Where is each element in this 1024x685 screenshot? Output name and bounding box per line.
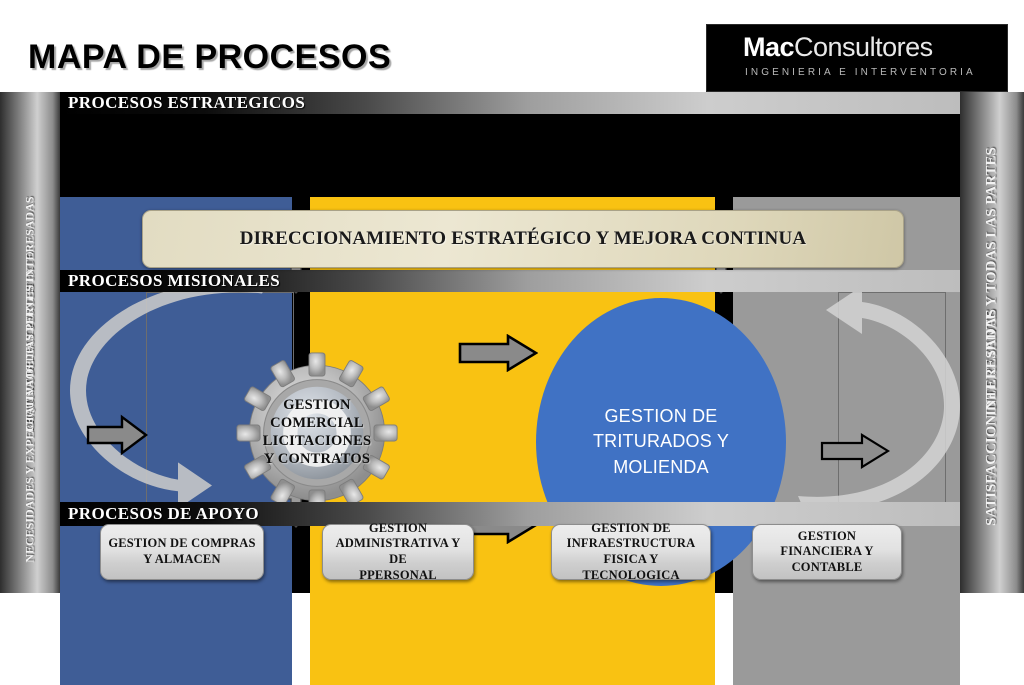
output-arrow xyxy=(820,432,890,470)
gear-commercial-management: GESTION COMERCIAL LICITACIONES Y CONTRAT… xyxy=(228,344,406,522)
process-arrow-top xyxy=(458,334,538,372)
gear-line-4: Y CONTRATOS xyxy=(264,451,370,469)
band-label-misionales: PROCESOS MISIONALES xyxy=(68,271,280,291)
gear-line-3: LICITACIONES xyxy=(263,433,372,451)
band-procesos-misionales: PROCESOS MISIONALES xyxy=(60,270,960,292)
support-box-compras-label: GESTION DE COMPRAS Y ALMACEN xyxy=(108,536,255,567)
support-box-administrativa-label: GESTION ADMINISTRATIVA Y DE PPERSONAL xyxy=(329,521,467,584)
support-line: PPERSONAL xyxy=(329,568,467,584)
company-logo: MacConsultores INGENIERIA E INTERVENTORI… xyxy=(706,24,1008,92)
sidebar-left-line-3: NECESIDADES Y EXPECTATIVA DE LAS PERTES … xyxy=(23,160,38,600)
support-box-financiera[interactable]: GESTION FINANCIERA Y CONTABLE xyxy=(752,524,902,580)
sidebar-right-line-2: INTERESADAS xyxy=(984,143,1001,583)
recirculation-arrow-right xyxy=(770,288,970,514)
support-line: FINANCIERA Y xyxy=(780,544,873,560)
gear-line-2: COMERCIAL xyxy=(270,415,364,433)
ellipse-line-2: TRITURADOS Y xyxy=(593,429,729,455)
support-line: CONTABLE xyxy=(780,560,873,576)
band-label-estrategicos: PROCESOS ESTRATEGICOS xyxy=(68,93,305,113)
support-line: Y ALMACEN xyxy=(108,552,255,568)
sidebar-outputs: SATISFACCION DEL CLIENTE Y TODAS LAS PAR… xyxy=(960,92,1024,593)
page-header: MAPA DE PROCESOS MacConsultores INGENIER… xyxy=(0,0,1024,92)
page-title: MAPA DE PROCESOS xyxy=(28,38,391,77)
support-box-financiera-label: GESTION FINANCIERA Y CONTABLE xyxy=(780,529,873,576)
support-box-administrativa[interactable]: GESTION ADMINISTRATIVA Y DE PPERSONAL xyxy=(322,524,474,580)
strategic-direction-label: DIRECCIONAMIENTO ESTRATÉGICO Y MEJORA CO… xyxy=(240,228,807,250)
sidebar-inputs: ORGANIZACION Y SU CONTEXTO REQUISITOS DE… xyxy=(0,92,60,593)
support-line: FISICA Y TECNOLOGICA xyxy=(558,552,704,583)
band-label-apoyo: PROCESOS DE APOYO xyxy=(68,504,259,524)
support-box-infraestructura-label: GESTION DE INFRAESTRUCTURA FISICA Y TECN… xyxy=(558,521,704,584)
input-arrow xyxy=(86,414,148,456)
band-procesos-de-apoyo: PROCESOS DE APOYO xyxy=(60,502,960,526)
support-line: GESTION xyxy=(780,529,873,545)
support-box-infraestructura[interactable]: GESTION DE INFRAESTRUCTURA FISICA Y TECN… xyxy=(551,524,711,580)
logo-tagline: INGENIERIA E INTERVENTORIA xyxy=(745,67,976,78)
support-line: GESTION xyxy=(329,521,467,537)
support-line: INFRAESTRUCTURA xyxy=(558,536,704,552)
logo-brand-light: Consultores xyxy=(794,32,933,62)
gear-line-1: GESTION xyxy=(283,397,350,415)
support-box-compras[interactable]: GESTION DE COMPRAS Y ALMACEN xyxy=(100,524,264,580)
logo-brand-bold: Mac xyxy=(743,32,794,62)
logo-wordmark: MacConsultores xyxy=(743,32,933,63)
ellipse-line-3: MOLIENDA xyxy=(593,455,729,481)
support-line: GESTION DE COMPRAS xyxy=(108,536,255,552)
band-procesos-estrategicos: PROCESOS ESTRATEGICOS xyxy=(60,92,960,114)
support-line: GESTION DE xyxy=(558,521,704,537)
support-line: ADMINISTRATIVA Y DE xyxy=(329,536,467,567)
gear-label: GESTION COMERCIAL LICITACIONES Y CONTRAT… xyxy=(228,344,406,522)
process-map-frame: GESTION COMERCIAL LICITACIONES Y CONTRAT… xyxy=(0,92,1024,593)
ellipse-line-1: GESTION DE xyxy=(593,404,729,430)
core-process-label: GESTION DE TRITURADOS Y MOLIENDA xyxy=(593,404,729,481)
strategic-direction-banner: DIRECCIONAMIENTO ESTRATÉGICO Y MEJORA CO… xyxy=(142,210,904,268)
